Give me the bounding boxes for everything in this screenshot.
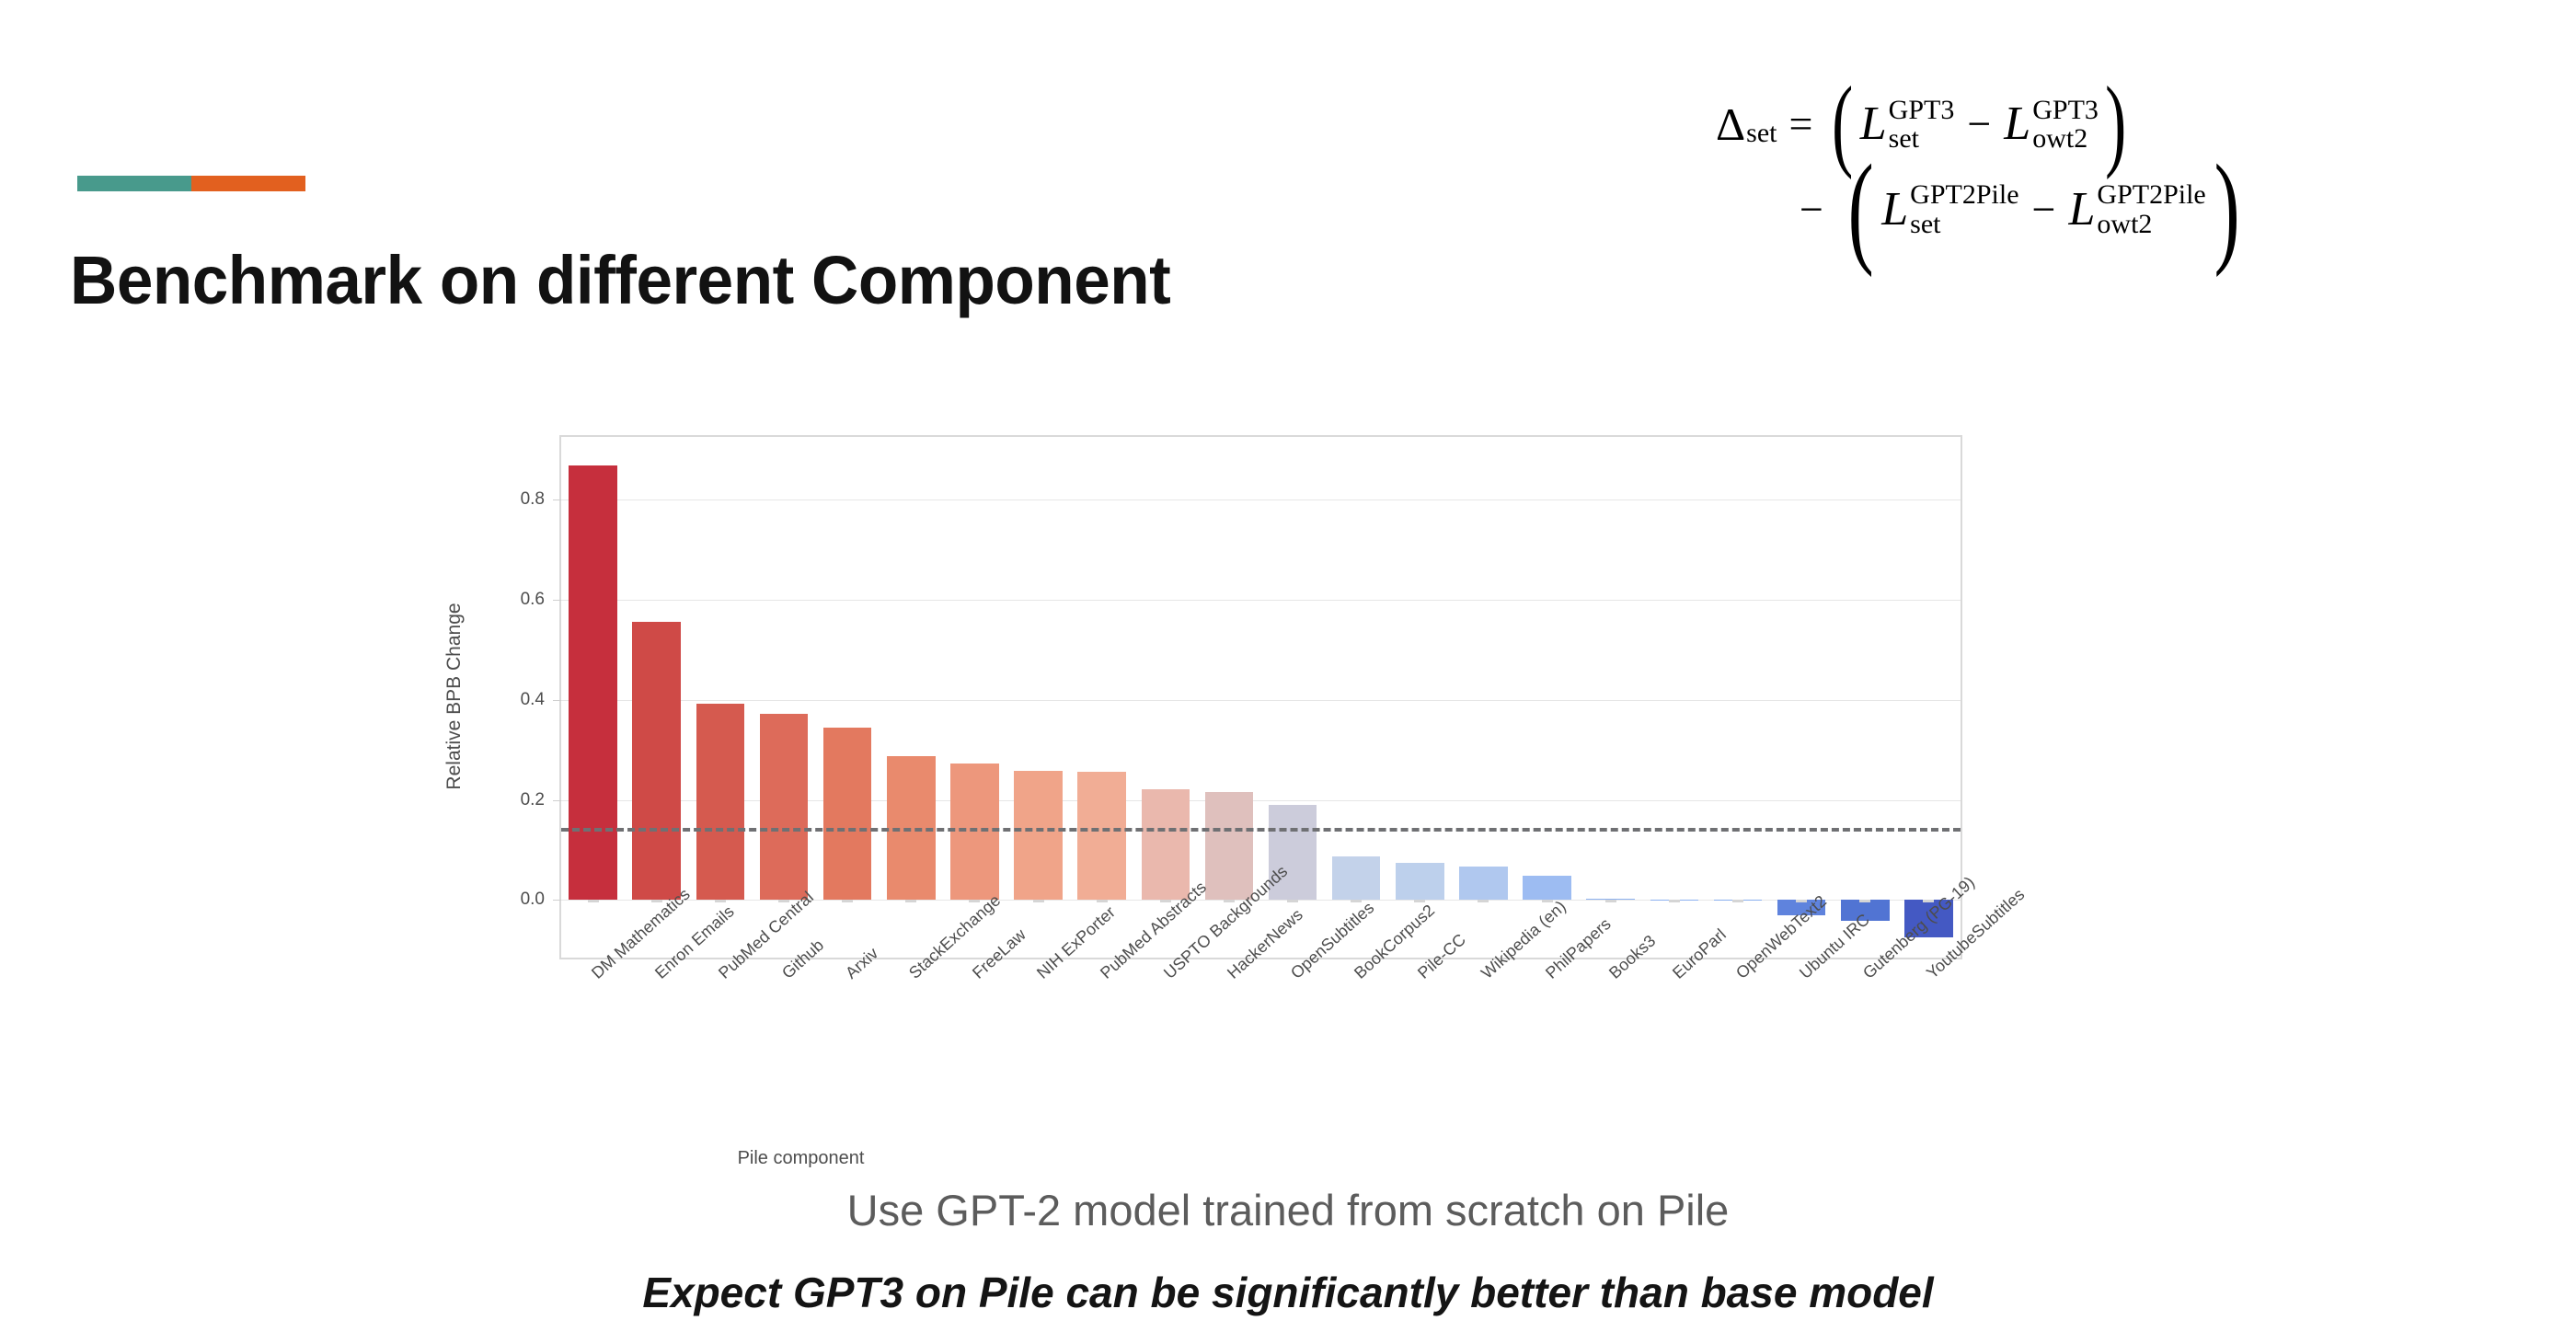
bar[interactable] [1459,867,1508,900]
x-axis-tick [1478,900,1489,902]
caption-note: Use GPT-2 model trained from scratch on … [0,1185,2576,1235]
y-axis-tick [553,800,561,801]
bar[interactable] [1077,772,1126,901]
formula-l1-term2-script: GPT3 owt2 [2032,96,2099,153]
formula-delta-subscript: set [1746,118,1777,149]
formula-l2-term1-symbol: L [1881,182,1908,236]
bar[interactable] [760,714,809,900]
bar[interactable] [1523,876,1571,900]
formula-l1-term1-script: GPT3 set [1889,96,1955,153]
formula-l2-term1-superscript: GPT2Pile [1910,180,2018,209]
bar[interactable] [1142,789,1190,900]
bar[interactable] [632,622,681,901]
x-axis-tick [1287,900,1298,902]
formula-line-1: Δset = ( L GPT3 set − L GPT3 owt2 ) [1697,92,2553,155]
bar[interactable] [823,728,872,901]
accent-rule-orange-segment [191,176,305,191]
accent-rule-teal-segment [77,176,191,191]
y-axis-tick-label: 0.2 [521,790,545,810]
formula-l2-minus: − [2032,185,2056,234]
bar[interactable] [1396,863,1444,900]
formula-l2-term1-subscript: set [1910,210,2018,238]
bar[interactable] [1014,771,1063,900]
x-axis-tick [842,900,853,902]
x-axis-title: Pile component [99,1148,1502,1169]
formula-l1-term1-subscript: set [1889,124,1955,153]
bar[interactable] [1332,856,1381,900]
y-axis-tick [553,700,561,701]
formula-paren-close-2: ) [2214,170,2239,247]
threshold-dashed-line [561,828,1961,832]
y-axis-tick-label: 0.8 [521,489,545,510]
bar[interactable] [950,764,999,900]
page-title: Benchmark on different Component [70,241,1170,319]
y-axis-tick-label: 0.0 [521,890,545,910]
delta-definition-formula: Δset = ( L GPT3 set − L GPT3 owt2 ) − ( … [1697,92,2553,248]
bar[interactable] [1205,792,1254,900]
x-axis-tick [1033,900,1044,902]
formula-paren-close-1: ) [2105,92,2126,155]
formula-l2-term1-script: GPT2Pile set [1910,180,2018,237]
x-axis-tick [588,900,599,902]
formula-l2-term2-subscript: owt2 [2097,210,2205,238]
accent-rule [77,176,305,191]
formula-l1-term2-superscript: GPT3 [2032,96,2099,124]
y-axis-tick [553,499,561,500]
formula-l1-term2-symbol: L [2004,97,2030,151]
formula-leading-minus: − [1800,185,1823,234]
caption-takeaway: Expect GPT3 on Pile can be significantly… [0,1268,2576,1317]
y-axis-tick-label: 0.4 [521,690,545,710]
formula-delta-symbol: Δ [1716,98,1745,151]
formula-paren-open-2: ( [1848,170,1874,247]
formula-l1-minus: − [1967,99,1991,148]
bar[interactable] [569,465,617,900]
x-axis-tick [1669,900,1680,902]
relative-bpb-change-bar-chart: Relative BPB Change 0.00.20.40.60.8 DM M… [460,419,1987,984]
formula-l1-term1-superscript: GPT3 [1889,96,1955,124]
x-axis-tick [1732,900,1743,902]
formula-l1-term2-subscript: owt2 [2032,124,2099,153]
y-axis-tick-label: 0.6 [521,590,545,610]
y-axis-tick [553,600,561,601]
formula-l2-term2-superscript: GPT2Pile [2097,180,2205,209]
formula-line-2: − ( L GPT2Pile set − L GPT2Pile owt2 ) [1697,170,2553,247]
formula-l2-term2-script: GPT2Pile owt2 [2097,180,2205,237]
formula-l2-term2-symbol: L [2068,182,2095,236]
bar[interactable] [696,704,745,900]
x-axis-tick [1859,900,1870,902]
x-axis-tick [1605,900,1616,902]
x-axis-tick [905,900,916,902]
formula-equals-sign: = [1788,99,1812,148]
y-axis-title: Relative BPB Change [443,603,466,789]
y-axis-tick [553,900,561,901]
